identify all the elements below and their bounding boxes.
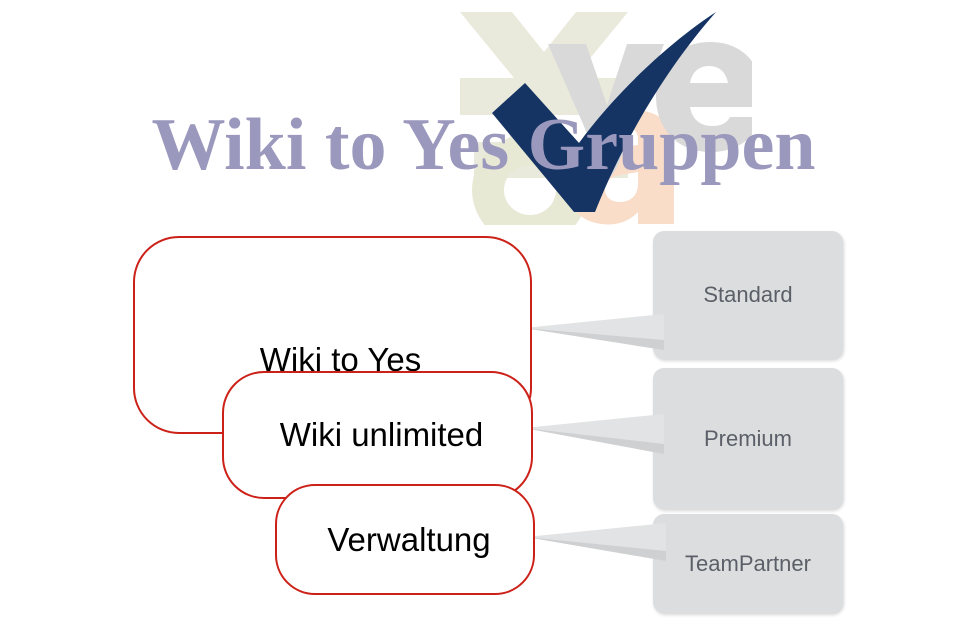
box-team-partner[interactable]: Team Partner xyxy=(653,514,843,613)
box-label-line-2: Partner xyxy=(739,550,811,578)
box-standard[interactable]: Standard xyxy=(653,231,843,359)
box-premium[interactable]: Premium xyxy=(653,368,843,509)
box-label-line-1: Team xyxy=(685,550,739,578)
bubble-wiki-unlimited[interactable]: Wiki unlimited xyxy=(222,371,533,499)
connector-verwaltung-team-partner xyxy=(526,521,666,565)
box-label: Standard xyxy=(703,281,792,309)
bubble-label: Verwaltung xyxy=(327,521,490,559)
slide-canvas: Wiki to Yes Gruppen Wiki to Yes Wiki unl… xyxy=(0,0,967,627)
connector-wiki-unlimited-premium xyxy=(524,414,664,458)
page-title: Wiki to Yes Gruppen xyxy=(0,108,967,182)
bubble-label: Wiki unlimited xyxy=(280,416,484,454)
connector-wiki-to-yes-standard xyxy=(524,312,664,352)
box-label: Premium xyxy=(704,425,792,453)
bubble-verwaltung[interactable]: Verwaltung xyxy=(275,484,535,595)
